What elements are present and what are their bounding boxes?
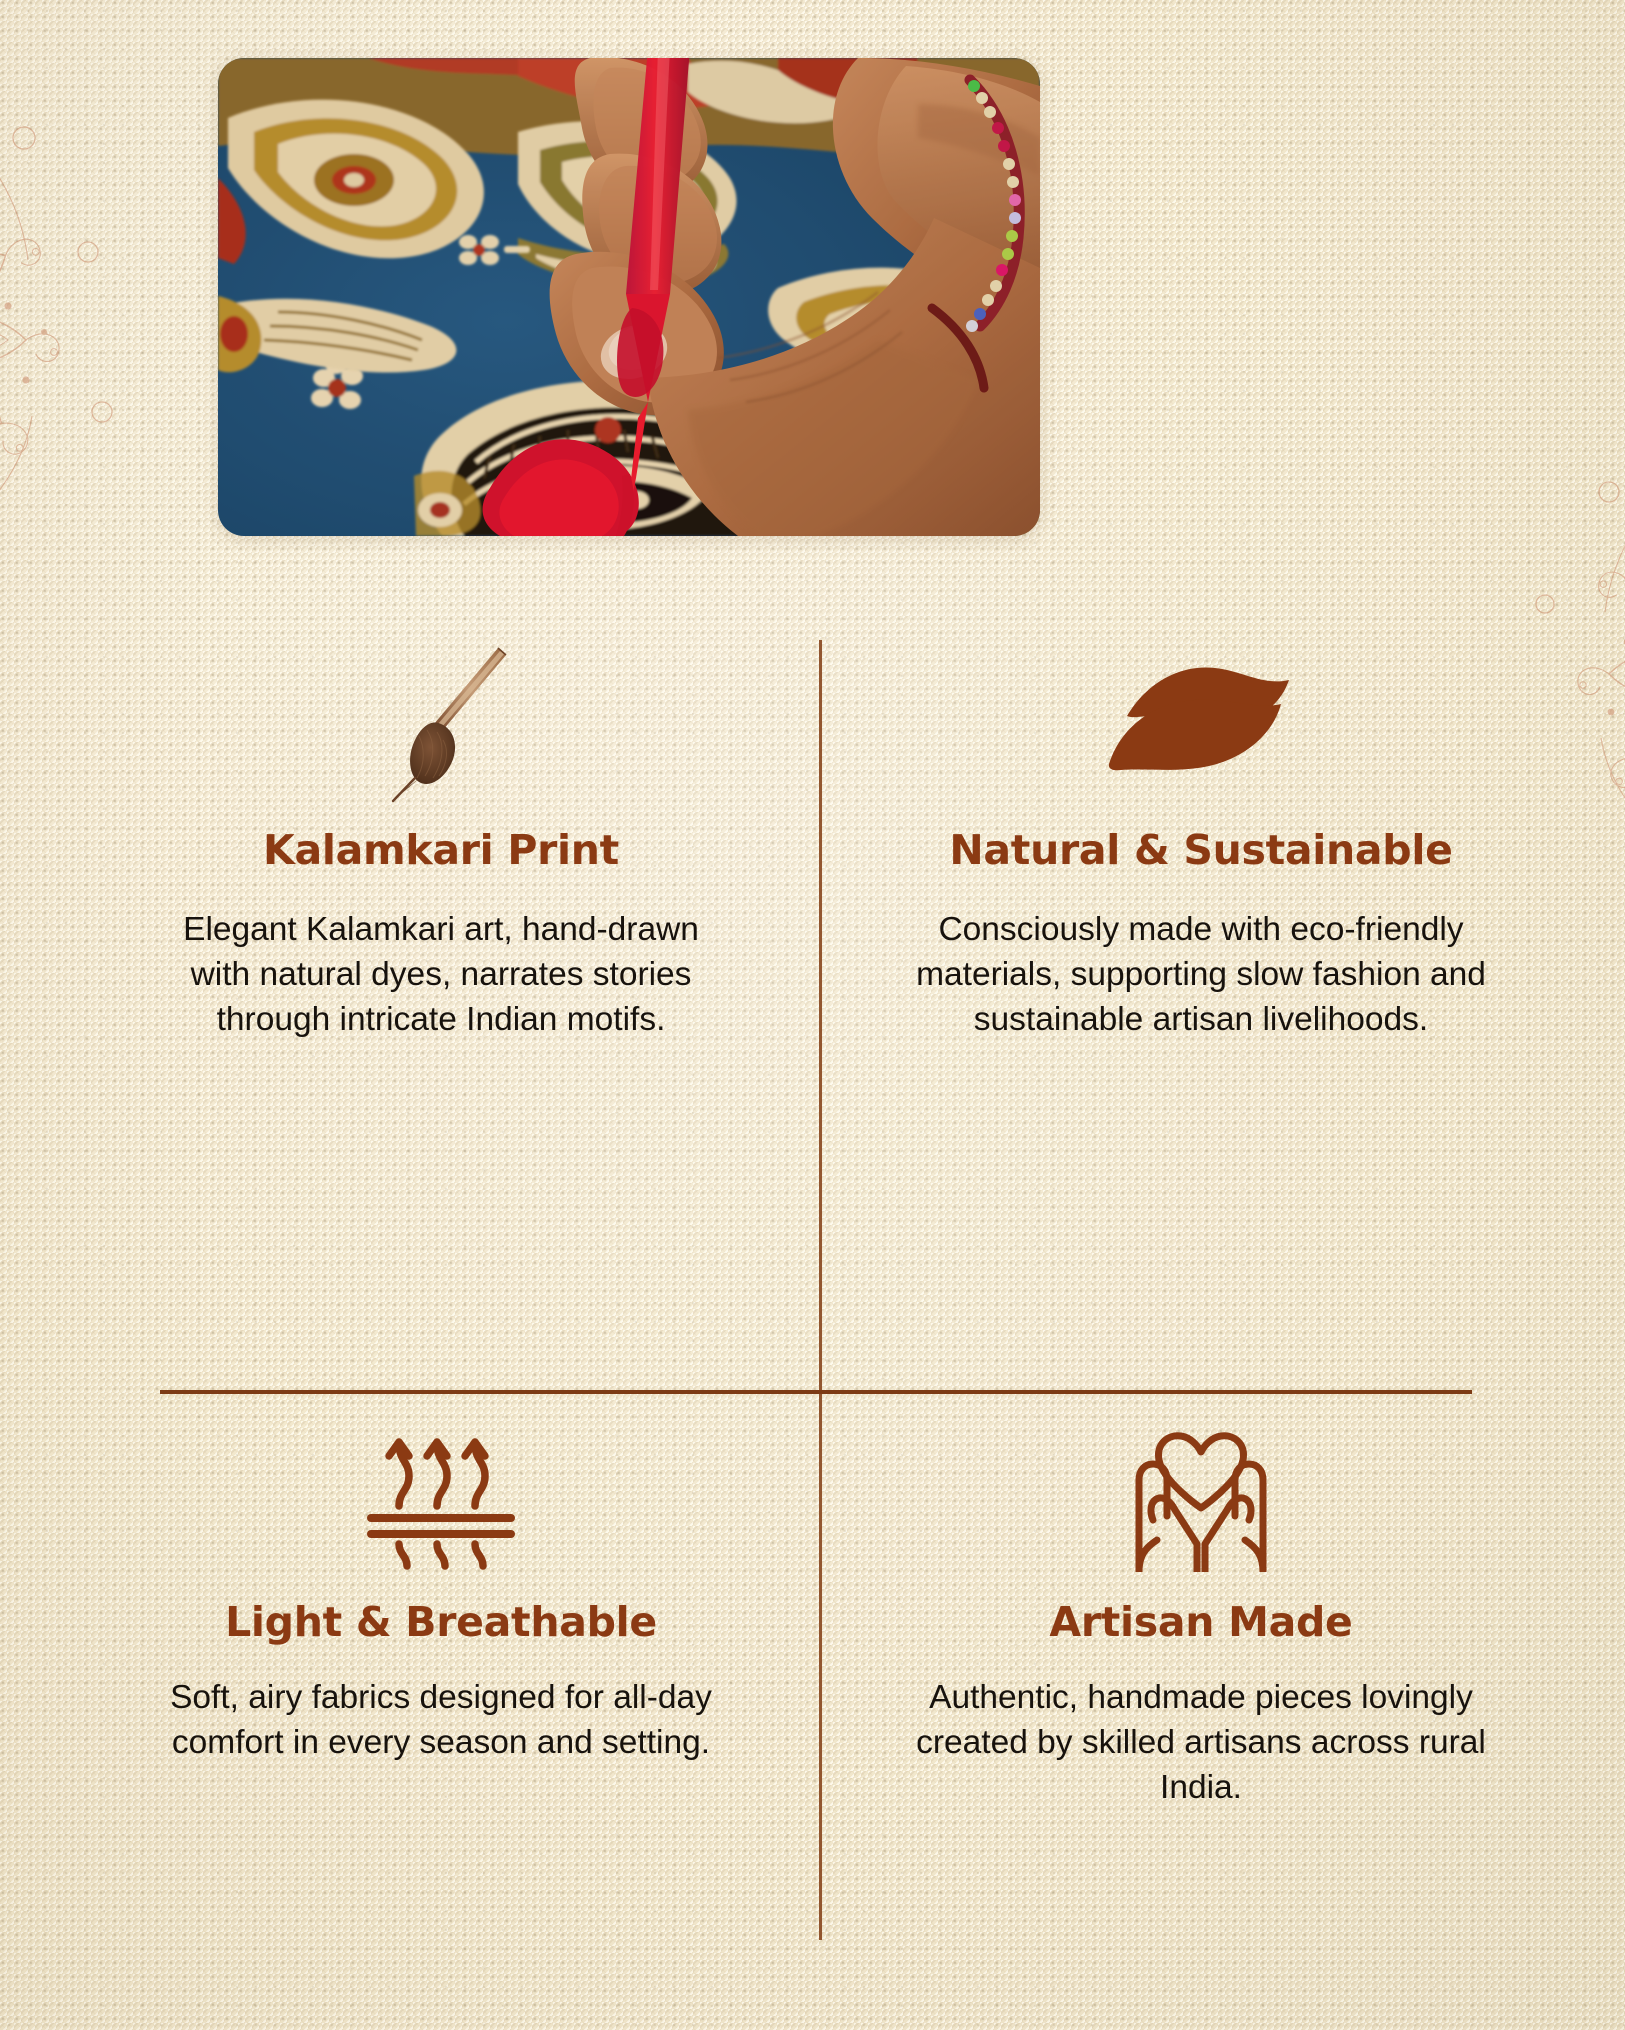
feature-kalamkari-print: Kalamkari Print Elegant Kalamkari art, h…	[96, 632, 786, 1043]
feature-description: Authentic, handmade pieces lovingly crea…	[911, 1676, 1491, 1811]
feature-description: Elegant Kalamkari art, hand-drawn with n…	[161, 908, 721, 1043]
vertical-divider	[819, 640, 822, 1940]
feature-artisan-made: Artisan Made Authentic, handmade pieces …	[856, 1412, 1546, 1811]
feature-description: Consciously made with eco-friendly mater…	[911, 908, 1491, 1043]
feature-title: Kalamkari Print	[263, 826, 619, 874]
hands-holding-heart-icon	[1123, 1412, 1279, 1580]
feature-description: Soft, airy fabrics designed for all-day …	[161, 1676, 721, 1766]
kalam-pen-icon	[357, 632, 525, 804]
feature-title: Artisan Made	[1049, 1598, 1352, 1646]
horizontal-divider	[160, 1390, 1472, 1394]
feature-grid: Kalamkari Print Elegant Kalamkari art, h…	[0, 612, 1625, 1942]
feature-title: Natural & Sustainable	[949, 826, 1452, 874]
feature-light-breathable: Light & Breathable Soft, airy fabrics de…	[96, 1412, 786, 1766]
leaf-icon	[1103, 632, 1299, 804]
feature-natural-sustainable: Natural & Sustainable Consciously made w…	[856, 632, 1546, 1043]
kalamkari-artisan-photo-illustration	[218, 58, 1040, 536]
kalamkari-artisan-photo	[218, 58, 1040, 536]
feature-title: Light & Breathable	[225, 1598, 657, 1646]
breathable-airflow-icon	[365, 1412, 517, 1580]
mandala-ornament-left	[0, 46, 218, 626]
